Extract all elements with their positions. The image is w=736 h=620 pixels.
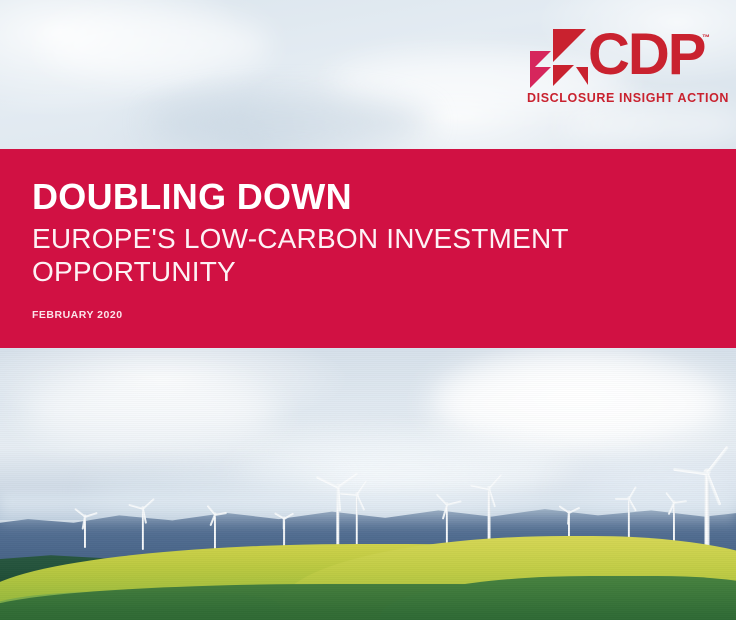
wind-turbine bbox=[272, 518, 296, 548]
cdp-tagline: DISCLOSURE INSIGHT ACTION bbox=[527, 91, 729, 105]
cloud-wisp bbox=[150, 96, 430, 148]
report-title: DOUBLING DOWN bbox=[32, 177, 352, 217]
cdp-triangle-mark-icon bbox=[526, 27, 590, 89]
trademark-symbol: ™ bbox=[702, 33, 710, 42]
logo-main-row: CDP ™ bbox=[526, 27, 710, 91]
photo-cloud bbox=[430, 356, 730, 452]
photo-cloud bbox=[20, 378, 280, 448]
cloud-wisp bbox=[40, 10, 270, 80]
publication-date: FEBRUARY 2020 bbox=[32, 309, 123, 321]
report-cover-page: CDP ™ DISCLOSURE INSIGHT ACTION DOUBLING… bbox=[0, 0, 736, 620]
wind-turbine bbox=[202, 514, 228, 550]
wind-turbine bbox=[128, 508, 158, 550]
cdp-logo: CDP ™ DISCLOSURE INSIGHT ACTION bbox=[526, 27, 710, 111]
cdp-wordmark: CDP bbox=[588, 22, 704, 88]
report-subtitle: EUROPE'S LOW-CARBON INVESTMENT OPPORTUNI… bbox=[32, 222, 592, 288]
wind-turbine bbox=[72, 516, 98, 548]
cover-photograph bbox=[0, 348, 736, 620]
title-banner: DOUBLING DOWN EUROPE'S LOW-CARBON INVEST… bbox=[0, 149, 736, 348]
